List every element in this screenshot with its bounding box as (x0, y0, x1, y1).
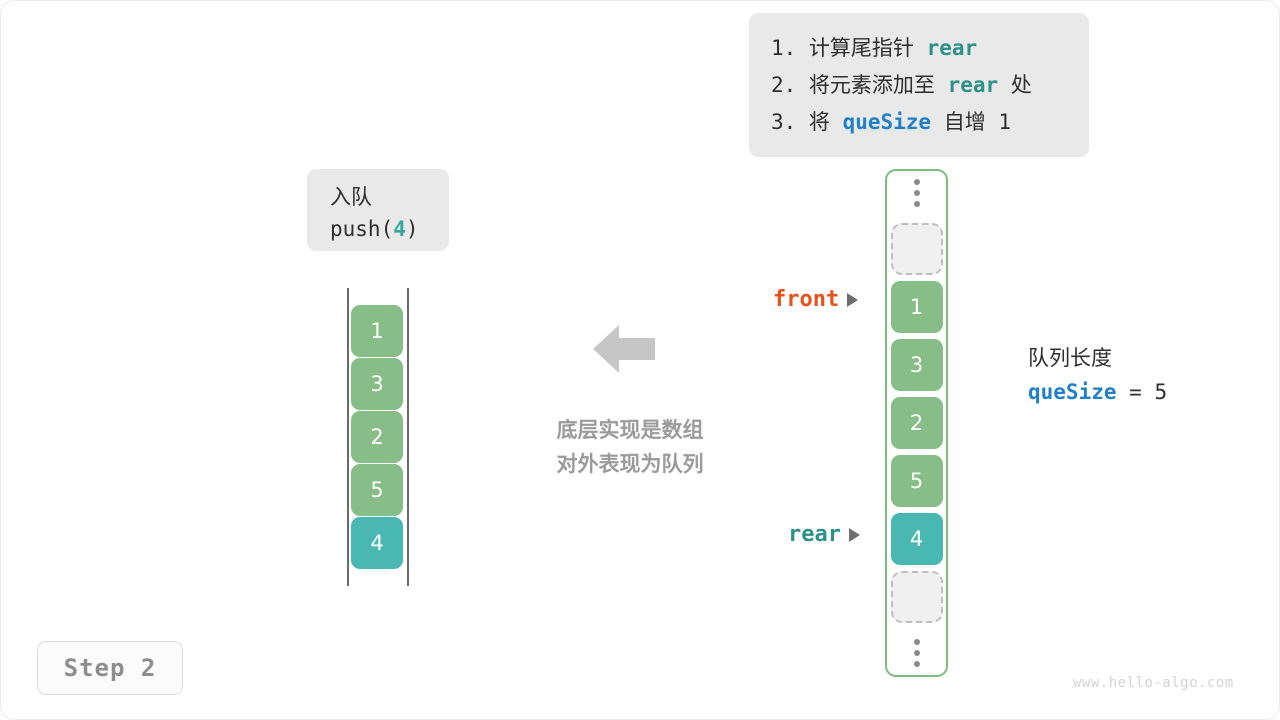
queue-size-caption: 队列长度 (1028, 342, 1167, 374)
abstract-queue-cell: 5 (351, 464, 403, 516)
step-badge-label: Step 2 (64, 654, 157, 682)
watermark: www.hello-algo.com (1073, 675, 1234, 691)
queue-size-variable: queSize (1028, 380, 1117, 404)
instruction-panel: 1. 计算尾指针 rear 2. 将元素添加至 rear 处 3. 将 queS… (749, 13, 1089, 157)
array-cell: 5 (891, 455, 943, 507)
front-pointer-label: front (773, 287, 839, 312)
watermark-text: www.hello-algo.com (1073, 675, 1234, 691)
instruction-line-3: 3. 将 queSize 自增 1 (771, 104, 1069, 141)
instruction-line-1: 1. 计算尾指针 rear (771, 30, 1069, 67)
instruction-line-2: 2. 将元素添加至 rear 处 (771, 67, 1069, 104)
push-call-prefix: push( (330, 217, 393, 241)
array-empty-slot-bottom (891, 571, 943, 623)
array-slots: 13254 (890, 169, 943, 677)
array-cell: 2 (891, 397, 943, 449)
push-call-value: 4 (393, 217, 406, 241)
array-cell: 1 (891, 281, 943, 333)
instruction-line-2-suffix: 处 (998, 73, 1032, 97)
step-badge: Step 2 (37, 641, 183, 695)
push-call-suffix: ) (406, 217, 419, 241)
array-empty-slot-top (891, 223, 943, 275)
instruction-line-2-prefix: 2. 将元素添加至 (771, 73, 948, 97)
queue-rail-right (407, 288, 409, 586)
queue-size-note: 队列长度 queSize = 5 (1028, 342, 1167, 410)
push-operation-callout: 入队 push(4) (307, 169, 449, 251)
queue-size-expression: queSize = 5 (1028, 374, 1167, 410)
instruction-line-3-keyword: queSize (843, 110, 932, 134)
diagram-canvas: 1. 计算尾指针 rear 2. 将元素添加至 rear 处 3. 将 queS… (0, 0, 1280, 720)
push-callout-code: push(4) (330, 213, 449, 246)
array-cell: 4 (891, 513, 943, 565)
push-callout-title: 入队 (330, 182, 449, 213)
front-pointer-arrow-icon (847, 293, 858, 307)
abstract-queue-cell: 2 (351, 411, 403, 463)
rear-pointer: rear (788, 522, 860, 547)
instruction-line-2-keyword: rear (948, 73, 999, 97)
instruction-line-3-prefix: 3. 将 (771, 110, 843, 134)
instruction-line-3-suffix: 自增 1 (931, 110, 1011, 134)
instruction-line-1-keyword: rear (927, 36, 978, 60)
left-arrow-icon (593, 323, 655, 379)
abstract-queue-cell: 3 (351, 358, 403, 410)
array-dots-bottom (890, 629, 943, 677)
rear-pointer-label: rear (788, 522, 841, 547)
abstract-queue: 13254 (347, 288, 409, 586)
array-dots-top (890, 169, 943, 217)
front-pointer: front (773, 287, 858, 312)
abstract-queue-cells: 13254 (351, 305, 403, 569)
rear-pointer-arrow-icon (849, 528, 860, 542)
instruction-line-1-prefix: 1. 计算尾指针 (771, 36, 927, 60)
queue-size-equals: = (1117, 380, 1155, 404)
center-caption-line-2: 对外表现为队列 (530, 447, 730, 481)
abstract-queue-cell: 4 (351, 517, 403, 569)
center-caption: 底层实现是数组 对外表现为队列 (530, 413, 730, 481)
queue-size-value: 5 (1154, 380, 1167, 404)
queue-rail-left (347, 288, 349, 586)
abstract-queue-cell: 1 (351, 305, 403, 357)
array-cell: 3 (891, 339, 943, 391)
center-caption-line-1: 底层实现是数组 (530, 413, 730, 447)
